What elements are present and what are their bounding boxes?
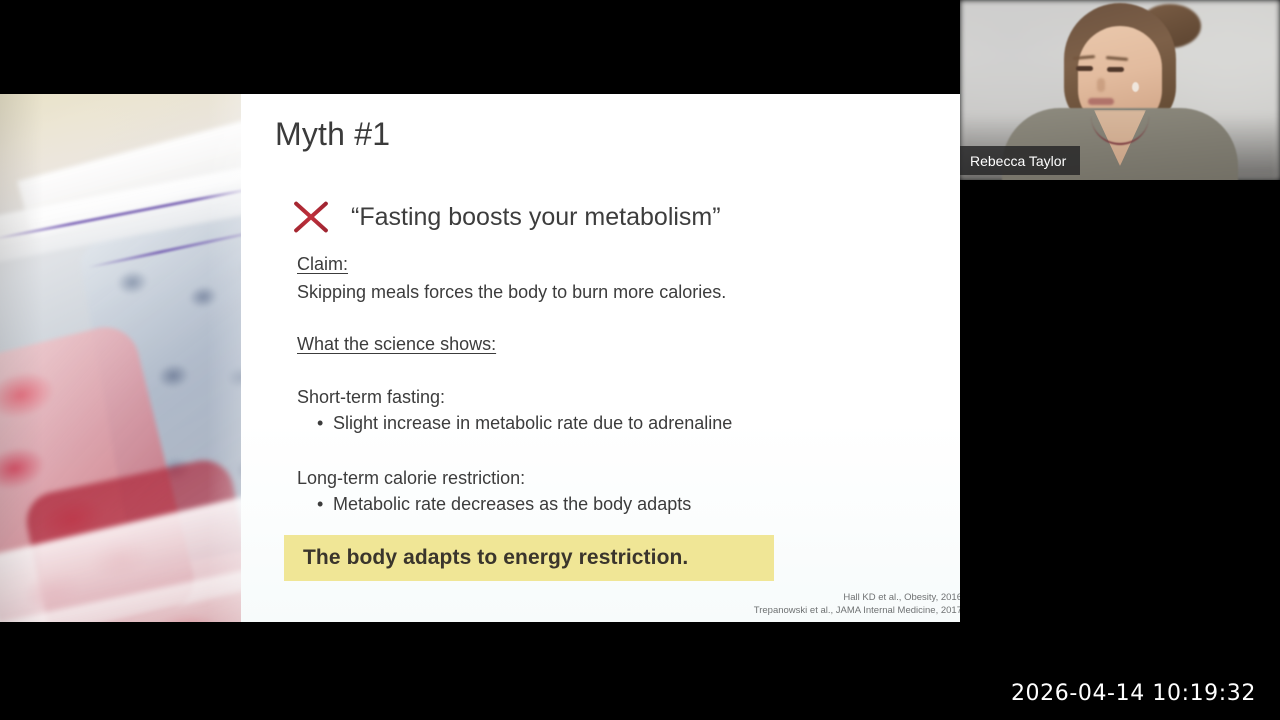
screen-recording-stage: Myth #1 “Fasting boosts your metabolism”… bbox=[0, 0, 1280, 720]
bullet-short-term-text: Slight increase in metabolic rate due to… bbox=[333, 413, 732, 433]
eye-right bbox=[1107, 67, 1124, 72]
section-heading-long-term: Long-term calorie restriction: bbox=[297, 468, 525, 489]
screen-share-slide: Myth #1 “Fasting boosts your metabolism”… bbox=[0, 94, 960, 622]
nose bbox=[1097, 78, 1105, 92]
citation-1: Hall KD et al., Obesity, 2016 bbox=[542, 591, 960, 604]
takeaway-callout: The body adapts to energy restriction. bbox=[284, 535, 774, 581]
bullet-long-term-text: Metabolic rate decreases as the body ada… bbox=[333, 494, 691, 514]
webcam-tile[interactable]: Rebecca Taylor bbox=[960, 0, 1280, 180]
participant-name-label: Rebecca Taylor bbox=[960, 153, 1079, 169]
participant-name-badge: Rebecca Taylor bbox=[960, 146, 1080, 175]
claim-label: Claim: bbox=[297, 254, 348, 275]
eye-left bbox=[1076, 66, 1093, 71]
section-heading-short-term: Short-term fasting: bbox=[297, 387, 445, 408]
earring bbox=[1132, 82, 1139, 92]
frozen-berries-photo bbox=[0, 94, 241, 622]
slide-title: Myth #1 bbox=[275, 116, 390, 153]
bullet-long-term: •Metabolic rate decreases as the body ad… bbox=[317, 494, 691, 515]
claim-text: Skipping meals forces the body to burn m… bbox=[297, 282, 726, 303]
bullet-glyph-icon: • bbox=[317, 494, 333, 515]
slide-content: Myth #1 “Fasting boosts your metabolism”… bbox=[241, 94, 960, 622]
takeaway-callout-text: The body adapts to energy restriction. bbox=[284, 546, 688, 570]
myth-quote-text: “Fasting boosts your metabolism” bbox=[351, 203, 721, 232]
bullet-short-term: •Slight increase in metabolic rate due t… bbox=[317, 413, 732, 434]
citation-2: Trepanowski et al., JAMA Internal Medici… bbox=[542, 604, 960, 617]
science-label: What the science shows: bbox=[297, 334, 496, 355]
photo-vignette bbox=[0, 94, 241, 622]
mouth bbox=[1088, 98, 1114, 105]
red-x-icon bbox=[289, 196, 331, 238]
recording-timestamp: 2026-04-14 10:19:32 bbox=[1011, 681, 1256, 706]
myth-statement-row: “Fasting boosts your metabolism” bbox=[289, 196, 721, 238]
citations: Hall KD et al., Obesity, 2016 Trepanowsk… bbox=[542, 591, 960, 617]
bullet-glyph-icon: • bbox=[317, 413, 333, 434]
